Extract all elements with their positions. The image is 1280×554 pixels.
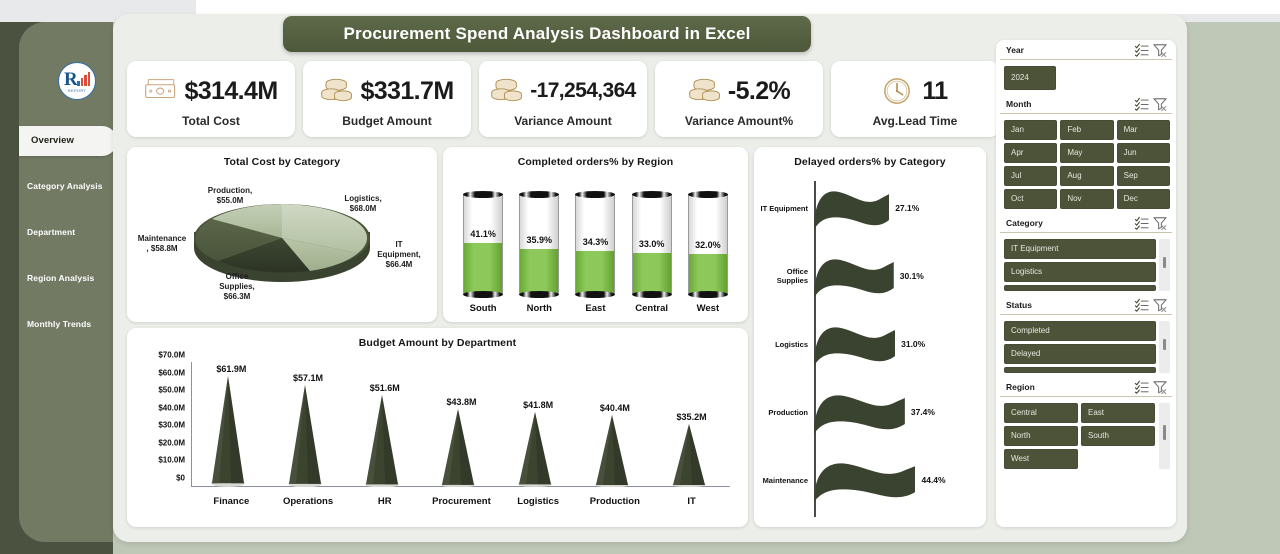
app-logo: R REPORT [55, 60, 99, 102]
slicer-header: Status [1000, 295, 1172, 315]
cylinder-chart: 41.1%South35.9%North34.3%East33.0%Centra… [455, 180, 736, 314]
slicer-title: Status [1006, 300, 1132, 310]
multi-select-icon[interactable] [1134, 298, 1150, 312]
slicer-item-west[interactable]: West [1004, 449, 1078, 469]
multi-select-icon[interactable] [1134, 97, 1150, 111]
cylinder-bar: 41.1% [463, 194, 503, 294]
flag-value-label: 27.1% [895, 203, 919, 213]
cone-category-label: Procurement [429, 496, 493, 507]
cone-y-tick: $10.0M [158, 456, 185, 465]
flag-category-label: Logistics [754, 340, 812, 349]
cylinder-category-label: East [585, 303, 605, 314]
flag-shape [814, 322, 895, 366]
slicer-item-central[interactable]: Central [1004, 403, 1078, 423]
clear-filter-icon[interactable] [1152, 380, 1168, 394]
cone-y-tick: $70.0M [158, 351, 185, 360]
kpi-card-variance-amount: -17,254,364Variance Amount [479, 61, 647, 137]
cone-bar [592, 415, 638, 487]
pie-label-logistics: Logistics, $68.0M [323, 194, 403, 214]
slicer-item-logistics[interactable]: Logistics [1004, 262, 1156, 282]
sheet-white-strip [196, 0, 1280, 14]
sidebar: R REPORT OverviewCategory AnalysisDepart… [19, 22, 113, 542]
slicer-item-jul[interactable]: Jul [1004, 166, 1057, 186]
sidebar-item-label: Department [27, 228, 75, 238]
cone-bar [669, 424, 715, 487]
slicer-header: Category [1000, 213, 1172, 233]
cylinder-fill [464, 243, 502, 294]
cylinder-value-label: 34.3% [576, 237, 614, 247]
flag-value-label: 31.0% [901, 339, 925, 349]
kpi-value: -5.2% [728, 77, 790, 106]
pie-label-maintenance: Maintenance , $58.8M [129, 234, 195, 254]
slicer-body: JanFebMarAprMayJunJulAugSepOctNovDec [1000, 114, 1172, 213]
cone-bar [285, 385, 331, 487]
cone-column-production: $40.4M [583, 362, 647, 487]
flag-row-it-equipment: IT Equipment27.1% [754, 179, 986, 237]
slicer-item-completed[interactable]: Completed [1004, 321, 1156, 341]
sidebar-item-region-analysis[interactable]: Region Analysis [19, 256, 113, 302]
kpi-value-row: $314.4M [144, 70, 277, 112]
flag-shape [814, 254, 894, 298]
slicer-month: MonthJanFebMarAprMayJunJulAugSepOctNovDe… [1000, 94, 1172, 213]
multi-select-icon[interactable] [1134, 216, 1150, 230]
kpi-label: Avg.Lead Time [873, 114, 958, 128]
dashboard-canvas: Procurement Spend Analysis Dashboard in … [113, 14, 1187, 542]
slicer-item-jan[interactable]: Jan [1004, 120, 1057, 140]
panel-total-cost-by-category: Total Cost by Category [127, 147, 437, 322]
cone-column-it: $35.2M [660, 362, 724, 487]
cylinder-category-label: Central [635, 303, 668, 314]
slicer-items: CentralEastNorthSouthWest [1004, 403, 1156, 469]
slicer-header: Month [1000, 94, 1172, 114]
cylinder-bar: 33.0% [632, 194, 672, 294]
cone-category-label: HR [353, 496, 417, 507]
cone-value-label: $41.8M [523, 400, 553, 410]
banknote-icon [144, 76, 178, 106]
kpi-card-row: $314.4MTotal Cost$331.7MBudget Amount-17… [127, 61, 999, 137]
slicer-header: Year [1000, 40, 1172, 60]
cone-chart-y-axis: $0$10.0M$20.0M$30.0M$40.0M$50.0M$60.0M$7… [137, 364, 191, 487]
cone-column-operations: $57.1M [276, 362, 340, 487]
slicer-body: 2024 [1000, 60, 1172, 94]
flag-shape [814, 186, 889, 230]
cone-y-tick: $40.0M [158, 403, 185, 412]
kpi-card-budget-amount: $331.7MBudget Amount [303, 61, 471, 137]
sidebar-item-department[interactable]: Department [19, 210, 113, 256]
cone-value-label: $51.6M [370, 383, 400, 393]
slicer-body: CentralEastNorthSouthWest [1000, 397, 1172, 473]
cone-category-label: Finance [199, 496, 263, 507]
cone-column-hr: $51.6M [353, 362, 417, 487]
cone-axis-line-y [191, 362, 192, 487]
logo-circle-icon: R REPORT [58, 62, 96, 100]
cone-value-label: $40.4M [600, 403, 630, 413]
cone-category-label: Logistics [506, 496, 570, 507]
cylinder-fill [520, 249, 558, 294]
slicer-region: RegionCentralEastNorthSouthWest [1000, 377, 1172, 473]
kpi-card-variance-amount: -5.2%Variance Amount% [655, 61, 823, 137]
slicer-item-it-equipment[interactable]: IT Equipment [1004, 239, 1156, 259]
slicer-scrollbar-thumb[interactable] [1163, 339, 1166, 350]
cone-category-label: Production [583, 496, 647, 507]
cylinder-column-south: 41.1%South [460, 194, 506, 314]
flag-row-logistics: Logistics31.0% [754, 315, 986, 373]
cylinder-cap-bottom [632, 291, 672, 298]
slicer-scrollbar-thumb[interactable] [1163, 257, 1166, 268]
pie-chart: Production, $55.0M Logistics, $68.0M IT … [127, 168, 437, 314]
chart-title-cylinder: Completed orders% by Region [443, 147, 748, 168]
cone-column-finance: $61.9M [199, 362, 263, 487]
sidebar-item-label: Overview [31, 136, 74, 147]
slicer-items: CompletedDelayed [1004, 321, 1156, 373]
slicer-item-partial[interactable] [1004, 285, 1156, 291]
cone-category-label: IT [660, 496, 724, 507]
slicer-scrollbar-thumb[interactable] [1163, 425, 1166, 440]
cylinder-column-west: 32.0%West [685, 194, 731, 314]
kpi-label: Variance Amount% [685, 114, 793, 128]
coins-icon [490, 76, 524, 106]
slicer-item-apr[interactable]: Apr [1004, 143, 1057, 163]
slicer-item-feb[interactable]: Feb [1060, 120, 1113, 140]
slicer-item-nov[interactable]: Nov [1060, 189, 1113, 209]
cylinder-column-east: 34.3%East [572, 194, 618, 314]
slicer-status: StatusCompletedDelayed [1000, 295, 1172, 377]
cone-y-tick: $20.0M [158, 438, 185, 447]
clear-filter-icon[interactable] [1152, 216, 1168, 230]
cone-category-labels: FinanceOperationsHRProcurementLogisticsP… [193, 489, 730, 513]
cone-bar [515, 412, 561, 487]
cone-value-label: $43.8M [446, 397, 476, 407]
cone-chart: $0$10.0M$20.0M$30.0M$40.0M$50.0M$60.0M$7… [137, 358, 738, 519]
panel-budget-by-department: Budget Amount by Department $0$10.0M$20.… [127, 328, 748, 527]
kpi-value-row: $331.7M [320, 70, 453, 112]
cone-y-tick: $50.0M [158, 386, 185, 395]
slicer-items: JanFebMarAprMayJunJulAugSepOctNovDec [1004, 120, 1170, 209]
slicer-item-jun[interactable]: Jun [1117, 143, 1170, 163]
logo-bar-chart-icon [77, 72, 90, 86]
cylinder-cap-bottom [519, 291, 559, 298]
pie-label-production: Production, $55.0M [185, 186, 275, 206]
coins-icon [688, 76, 722, 106]
cone-value-label: $57.1M [293, 373, 323, 383]
sidebar-item-category-analysis[interactable]: Category Analysis [19, 164, 113, 210]
cone-value-label: $61.9M [216, 364, 246, 374]
cylinder-cap-top [688, 191, 728, 198]
slicer-item-2024[interactable]: 2024 [1004, 66, 1056, 90]
kpi-label: Total Cost [182, 114, 240, 128]
cone-value-label: $35.2M [677, 412, 707, 422]
slicer-title: Year [1006, 45, 1132, 55]
kpi-value: $331.7M [360, 77, 453, 106]
slicer-item-sep[interactable]: Sep [1117, 166, 1170, 186]
cylinder-cap-bottom [575, 291, 615, 298]
cone-bars: $61.9M$57.1M$51.6M$43.8M$41.8M$40.4M$35.… [193, 362, 730, 487]
chart-title-flag: Delayed orders% by Category [754, 147, 986, 168]
cylinder-bar: 35.9% [519, 194, 559, 294]
slicer-item-delayed[interactable]: Delayed [1004, 344, 1156, 364]
sidebar-item-label: Monthly Trends [27, 320, 91, 330]
slicer-body: IT EquipmentLogistics [1000, 233, 1172, 295]
flag-category-label: Production [754, 408, 812, 417]
panel-delayed-orders-by-category: Delayed orders% by Category IT Equipment… [754, 147, 986, 527]
kpi-value-row: -5.2% [688, 70, 790, 112]
slicer-scrollbar[interactable] [1159, 321, 1170, 373]
slicer-item-dec[interactable]: Dec [1117, 189, 1170, 209]
slicer-year: Year2024 [1000, 40, 1172, 94]
page-title: Procurement Spend Analysis Dashboard in … [283, 16, 811, 52]
cylinder-category-label: North [527, 303, 552, 314]
flag-shape [814, 458, 915, 502]
slicer-body: CompletedDelayed [1000, 315, 1172, 377]
kpi-value-row: -17,254,364 [490, 70, 636, 112]
cylinder-cap-bottom [463, 291, 503, 298]
cylinder-cap-top [575, 191, 615, 198]
dashboard-root: R REPORT OverviewCategory AnalysisDepart… [0, 0, 1280, 554]
cylinder-category-label: South [470, 303, 497, 314]
sidebar-item-label: Category Analysis [27, 182, 103, 192]
kpi-label: Budget Amount [342, 114, 432, 128]
slicer-item-oct[interactable]: Oct [1004, 189, 1057, 209]
slicer-header: Region [1000, 377, 1172, 397]
cylinder-value-label: 41.1% [464, 229, 502, 239]
slicer-category: CategoryIT EquipmentLogistics [1000, 213, 1172, 295]
flag-row-production: Production37.4% [754, 383, 986, 441]
chart-title-cone: Budget Amount by Department [127, 328, 748, 349]
cone-bar [208, 376, 254, 487]
cylinder-bar: 32.0% [688, 194, 728, 294]
panel-completed-orders-by-region: Completed orders% by Region 41.1%South35… [443, 147, 748, 322]
slicer-title: Category [1006, 218, 1132, 228]
cylinder-value-label: 32.0% [689, 240, 727, 250]
slicer-panel: Year2024MonthJanFebMarAprMayJunJulAugSep… [996, 40, 1176, 527]
slicer-scrollbar[interactable] [1159, 403, 1170, 469]
cone-column-logistics: $41.8M [506, 362, 570, 487]
slicer-item-partial[interactable] [1004, 367, 1156, 373]
cylinder-column-central: 33.0%Central [629, 194, 675, 314]
clear-filter-icon[interactable] [1152, 97, 1168, 111]
cylinder-cap-top [519, 191, 559, 198]
cone-y-tick: $0 [176, 474, 185, 483]
cylinder-value-label: 33.0% [633, 239, 671, 249]
kpi-label: Variance Amount [514, 114, 612, 128]
cylinder-value-label: 35.9% [520, 235, 558, 245]
clear-filter-icon[interactable] [1152, 298, 1168, 312]
pie-label-office-supplies: Office Supplies, $66.3M [197, 272, 277, 302]
flag-category-label: Office Supplies [754, 267, 812, 285]
flag-value-label: 37.4% [911, 407, 935, 417]
clock-icon [882, 76, 916, 106]
slicer-item-south[interactable]: South [1081, 426, 1155, 446]
cone-y-tick: $60.0M [158, 368, 185, 377]
kpi-value: $314.4M [184, 77, 277, 106]
slicer-item-north[interactable]: North [1004, 426, 1078, 446]
slicer-items: IT EquipmentLogistics [1004, 239, 1156, 291]
pie-label-it-equipment: IT Equipment, $66.4M [365, 240, 433, 270]
sidebar-item-overview[interactable]: Overview [19, 126, 117, 156]
flag-row-office-supplies: Office Supplies30.1% [754, 247, 986, 305]
slicer-items: 2024 [1004, 66, 1170, 90]
cylinder-fill [689, 254, 727, 294]
cylinder-fill [633, 253, 671, 294]
flag-chart: IT Equipment27.1%Office Supplies30.1%Log… [754, 177, 986, 521]
clear-filter-icon[interactable] [1152, 43, 1168, 57]
multi-select-icon[interactable] [1134, 380, 1150, 394]
kpi-value: 11 [922, 77, 947, 106]
logo-letter: R [64, 70, 78, 89]
slicer-item-east[interactable]: East [1081, 403, 1155, 423]
cylinder-fill [576, 251, 614, 294]
coins-icon [320, 76, 354, 106]
cone-category-label: Operations [276, 496, 340, 507]
sidebar-item-monthly-trends[interactable]: Monthly Trends [19, 302, 113, 348]
sidebar-nav: OverviewCategory AnalysisDepartmentRegio… [19, 118, 113, 348]
cone-y-tick: $30.0M [158, 421, 185, 430]
slicer-item-mar[interactable]: Mar [1117, 120, 1170, 140]
flag-row-maintenance: Maintenance44.4% [754, 451, 986, 509]
flag-category-label: Maintenance [754, 476, 812, 485]
slicer-item-aug[interactable]: Aug [1060, 166, 1113, 186]
flag-shape [814, 390, 905, 434]
cone-bar [438, 409, 484, 487]
kpi-value: -17,254,364 [530, 79, 636, 103]
cylinder-cap-bottom [688, 291, 728, 298]
cylinder-cap-top [463, 191, 503, 198]
kpi-card-avg-lead-time: 11Avg.Lead Time [831, 61, 999, 137]
cylinder-cap-top [632, 191, 672, 198]
slicer-title: Month [1006, 99, 1132, 109]
flag-value-label: 30.1% [900, 271, 924, 281]
slicer-item-may[interactable]: May [1060, 143, 1113, 163]
cone-bar [362, 395, 408, 487]
cylinder-category-label: West [697, 303, 720, 314]
chart-title-pie: Total Cost by Category [127, 147, 437, 168]
flag-value-label: 44.4% [921, 475, 945, 485]
flag-category-label: IT Equipment [754, 204, 812, 213]
slicer-title: Region [1006, 382, 1132, 392]
kpi-value-row: 11 [882, 70, 947, 112]
cylinder-bar: 34.3% [575, 194, 615, 294]
multi-select-icon[interactable] [1134, 43, 1150, 57]
kpi-card-total-cost: $314.4MTotal Cost [127, 61, 295, 137]
slicer-scrollbar[interactable] [1159, 239, 1170, 291]
cylinder-column-north: 35.9%North [516, 194, 562, 314]
sidebar-item-label: Region Analysis [27, 274, 94, 284]
logo-subtitle: REPORT [59, 88, 95, 93]
cone-column-procurement: $43.8M [429, 362, 493, 487]
